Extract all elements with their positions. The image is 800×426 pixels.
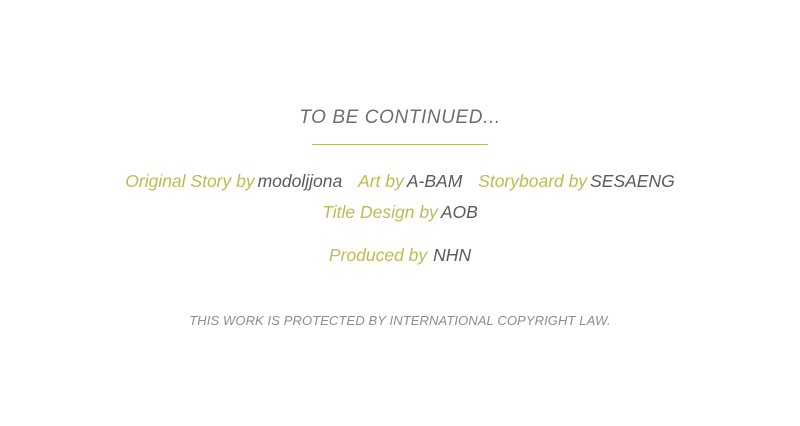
credit-name-value: modoljjona [258,171,343,191]
credit-name-value: A-BAM [407,171,462,191]
credit-role-label: Original Story by [125,171,254,191]
credit-art: Art byA-BAM [358,171,467,191]
credits-block: Original Story bymodoljjona Art byA-BAM … [0,173,800,221]
credit-role-label: Title Design by [322,202,438,222]
credit-produced-by: Produced byNHN [329,245,471,265]
credits-row-produced: Produced byNHN [0,245,800,266]
credit-name-value: SESAENG [590,171,675,191]
copyright-notice: THIS WORK IS PROTECTED BY INTERNATIONAL … [0,313,800,328]
divider-rule [312,144,488,145]
credit-name-value: AOB [441,202,478,222]
credit-title-design: Title Design byAOB [322,202,478,222]
credit-role-label: Produced by [329,245,427,265]
credit-storyboard: Storyboard bySESAENG [478,171,675,191]
credit-role-label: Storyboard by [478,171,587,191]
end-credits-card: TO BE CONTINUED... Original Story bymodo… [0,0,800,426]
credit-name-value: NHN [433,245,471,265]
credit-original-story: Original Story bymodoljjona [125,171,347,191]
credits-row-title-design: Title Design byAOB [0,204,800,222]
to-be-continued-text: TO BE CONTINUED... [0,107,800,129]
credits-row-main: Original Story bymodoljjona Art byA-BAM … [0,173,800,191]
credit-role-label: Art by [358,171,404,191]
